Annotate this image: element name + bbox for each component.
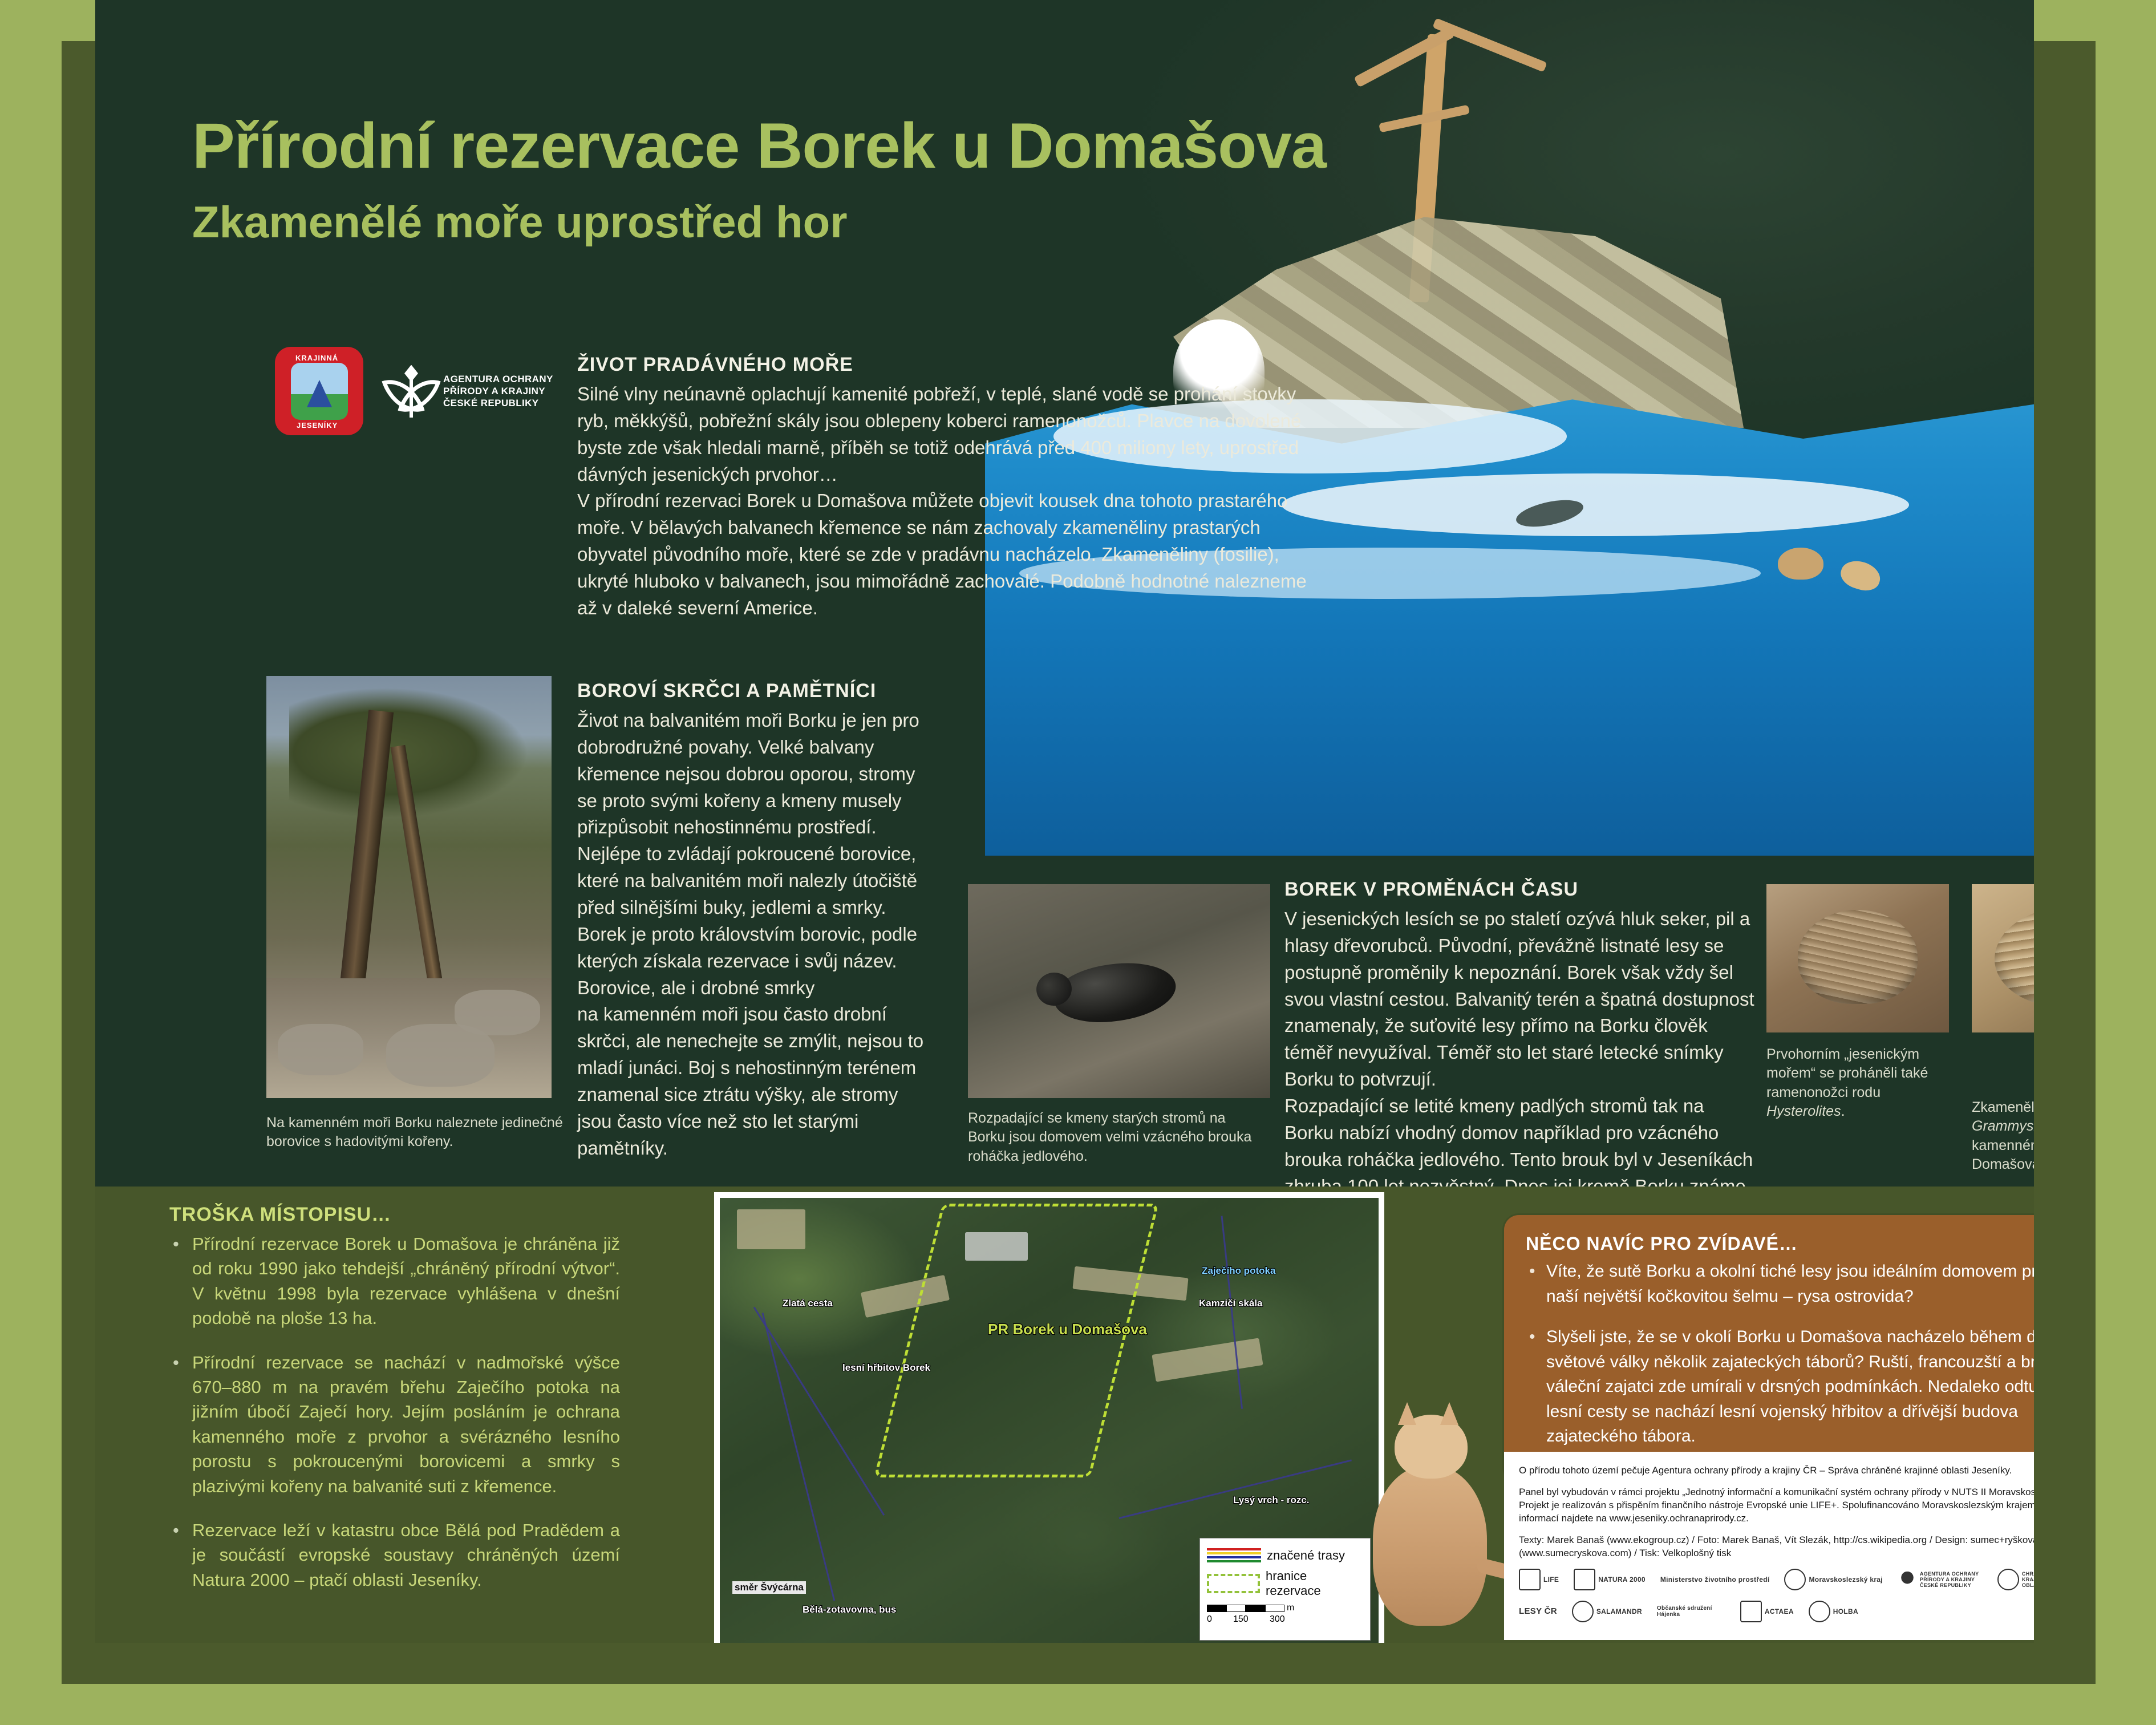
list-item: Přírodní rezervace se nachází v nadmořsk… bbox=[192, 1350, 620, 1499]
chko-logo-top: KRAJINNÁ bbox=[295, 354, 338, 362]
section-pines-paragraph-1: Život na balvanitém moři Borku je jen pr… bbox=[577, 707, 931, 1001]
legend-boundary-label: hranice rezervace bbox=[1266, 1569, 1363, 1598]
logo-label: LESY ČR bbox=[1519, 1606, 1557, 1616]
section-topography-heading: TROŠKA MÍSTOPISU… bbox=[169, 1204, 620, 1226]
section-pines: BOROVÍ SKRČCI A PAMĚTNÍCI Život na balva… bbox=[577, 680, 931, 1162]
logo-moravskoslezsky-kraj: Moravskoslezský kraj bbox=[1784, 1569, 1882, 1590]
scale-tick: 300 bbox=[1270, 1614, 1285, 1625]
map-road bbox=[753, 1307, 885, 1516]
map-aerial-image: Zlatá cesta lesní hřbitov Borek PR Borek… bbox=[720, 1198, 1379, 1643]
aopk-line-2: PŘÍRODY A KRAJINY bbox=[443, 385, 553, 397]
photo-stag-beetle bbox=[968, 884, 1270, 1098]
scale-bar: m bbox=[1207, 1603, 1363, 1613]
logo-label: HOLBA bbox=[1833, 1607, 1858, 1615]
lynx-ear-left bbox=[1398, 1402, 1416, 1425]
logo-holba: HOLBA bbox=[1809, 1601, 1858, 1622]
map-label-bus: Bělá-zotavovna, bus bbox=[803, 1604, 896, 1615]
sponsor-logos: LIFE NATURA 2000 Ministerstvo životního … bbox=[1519, 1569, 2034, 1622]
brachiopod-shell bbox=[1798, 910, 1918, 1004]
scale-unit: m bbox=[1287, 1603, 1294, 1613]
logo-label: Ministerstvo životního prostředí bbox=[1660, 1576, 1770, 1584]
photo-fossil-brachiopod bbox=[1766, 884, 1949, 1032]
chko-logo-icon bbox=[1997, 1569, 2019, 1590]
logo-label: NATURA 2000 bbox=[1598, 1576, 1646, 1584]
logo-salamandr: SALAMANDR bbox=[1572, 1601, 1642, 1622]
chko-jeseniky-logo: KRAJINNÁ JESENÍKY bbox=[275, 347, 363, 435]
logo-label: Občanské sdružení Hájenka bbox=[1657, 1605, 1725, 1618]
aopk-cr-logo: AGENTURA OCHRANY PŘÍRODY A KRAJINY ČESKÉ… bbox=[387, 365, 553, 418]
credits-line-1: O přírodu tohoto území pečuje Agentura o… bbox=[1519, 1464, 2034, 1477]
map-label: Zlatá cesta bbox=[783, 1298, 833, 1309]
credits-box: O přírodu tohoto území pečuje Agentura o… bbox=[1504, 1452, 2034, 1640]
list-item: Rezervace leží v katastru obce Bělá pod … bbox=[192, 1518, 620, 1592]
page-subtitle: Zkamenělé moře uprostřed hor bbox=[192, 200, 848, 244]
map-legend: značené trasy hranice rezervace m bbox=[1199, 1538, 1371, 1641]
foam-wave bbox=[1282, 473, 1909, 536]
list-item: Přírodní rezervace Borek u Domašova je c… bbox=[192, 1232, 620, 1331]
logo-ministry-environment: Ministerstvo životního prostředí bbox=[1660, 1576, 1770, 1584]
logo-label: SALAMANDR bbox=[1596, 1607, 1642, 1615]
trail-green bbox=[1207, 1560, 1261, 1562]
logo-actaea: ACTAEA bbox=[1740, 1601, 1794, 1622]
topography-bullet-list: Přírodní rezervace Borek u Domašova je c… bbox=[169, 1232, 620, 1592]
chko-logo-bottom: JESENÍKY bbox=[297, 421, 338, 430]
logo-label: CHRÁNĚNÁ KRAJINNÁ OBLAST JESENÍKY bbox=[2022, 1571, 2034, 1588]
mountain-icon bbox=[307, 380, 332, 407]
salamander-logo-icon bbox=[1572, 1601, 1594, 1622]
scale-seg bbox=[1226, 1605, 1246, 1612]
map-road bbox=[1119, 1459, 1352, 1519]
kraj-logo-icon bbox=[1784, 1569, 1806, 1590]
map-clearing bbox=[1152, 1338, 1263, 1382]
lynx-ear-right bbox=[1440, 1402, 1458, 1425]
section-time-heading: BOREK V PROMĚNÁCH ČASU bbox=[1284, 878, 1758, 901]
scale-tick: 0 bbox=[1207, 1614, 1233, 1625]
lynx-body bbox=[1373, 1466, 1487, 1626]
section-sea-life-heading: ŽIVOT PRADÁVNÉHO MOŘE bbox=[577, 354, 1313, 376]
caption-pine-photo: Na kamenném moři Borku naleznete jedineč… bbox=[266, 1113, 563, 1152]
map-label-direction: směr Švýcárna bbox=[732, 1581, 806, 1594]
logo-natura2000: NATURA 2000 bbox=[1574, 1569, 1646, 1590]
extra-bullet-list: Víte, že sutě Borku a okolní tiché lesy … bbox=[1526, 1259, 2034, 1449]
trail-red bbox=[1207, 1548, 1261, 1550]
trail-yellow bbox=[1207, 1552, 1261, 1554]
list-item: Víte, že sutě Borku a okolní tiché lesy … bbox=[1546, 1259, 2034, 1309]
brachiopod-illustration bbox=[1778, 548, 1823, 580]
section-extra-heading: NĚCO NAVÍC PRO ZVÍDAVÉ… bbox=[1526, 1233, 2034, 1254]
credits-line-3: Texty: Marek Banaš (www.ekogroup.cz) / F… bbox=[1519, 1534, 2034, 1560]
map-label-stream: Zaječího potoka bbox=[1202, 1265, 1275, 1277]
map-road bbox=[762, 1313, 836, 1601]
scale-ticks: 0 150 300 bbox=[1207, 1614, 1363, 1625]
map-road bbox=[1221, 1216, 1243, 1408]
scale-seg bbox=[1207, 1605, 1226, 1612]
fossil1-genus: Hysterolites bbox=[1766, 1103, 1841, 1119]
map-scale: m 0 150 300 bbox=[1207, 1603, 1363, 1625]
chko-emblem-icon bbox=[291, 363, 348, 420]
fossil2-genus: Grammysia bbox=[1972, 1118, 2034, 1134]
aopk-line-3: ČESKÉ REPUBLIKY bbox=[443, 397, 553, 409]
legend-trails-label: značené trasy bbox=[1267, 1548, 1345, 1563]
section-sea-life-paragraph-1: Silné vlny neúnavně oplachují kamenité p… bbox=[577, 381, 1313, 488]
section-topography: TROŠKA MÍSTOPISU… Přírodní rezervace Bor… bbox=[169, 1204, 620, 1611]
plant-bud-icon bbox=[404, 365, 418, 382]
logo-lesy-cr: LESY ČR bbox=[1519, 1606, 1557, 1616]
credits-line-2: Panel byl vybudován v rámci projektu „Je… bbox=[1519, 1486, 2034, 1525]
plant-leaf-icon bbox=[387, 365, 435, 418]
section-pines-heading: BOROVÍ SKRČCI A PAMĚTNÍCI bbox=[577, 680, 931, 702]
logo-hajenka: Občanské sdružení Hájenka bbox=[1657, 1605, 1725, 1618]
caption-fossil-brachiopod: Prvohorním „jesenickým mořem“ se proháně… bbox=[1766, 1045, 1949, 1121]
caption-fossil-bivalve: Zkamenělina mlže rodu Grammysia se ukrýv… bbox=[1972, 1098, 2034, 1174]
map-label: Lysý vrch - rozc. bbox=[1233, 1495, 1310, 1506]
aopk-logo-text: AGENTURA OCHRANY PŘÍRODY A KRAJINY ČESKÉ… bbox=[443, 373, 553, 410]
logo-chko-jeseniky: CHRÁNĚNÁ KRAJINNÁ OBLAST JESENÍKY bbox=[1997, 1569, 2034, 1590]
reserve-boundary bbox=[874, 1204, 1159, 1477]
location-map[interactable]: Zlatá cesta lesní hřbitov Borek PR Borek… bbox=[714, 1192, 1384, 1643]
actaea-logo-icon bbox=[1740, 1601, 1762, 1622]
section-extra-facts: NĚCO NAVÍC PRO ZVÍDAVÉ… Víte, že sutě Bo… bbox=[1504, 1215, 2034, 1482]
bivalve-shell bbox=[1995, 907, 2034, 1007]
map-label: lesní hřbitov Borek bbox=[842, 1362, 930, 1374]
section-time-paragraph-1: V jesenických lesích se po staletí ozývá… bbox=[1284, 906, 1758, 1093]
logo-label: ACTAEA bbox=[1765, 1607, 1794, 1615]
holba-logo-icon bbox=[1809, 1601, 1830, 1622]
map-clearing bbox=[737, 1209, 805, 1249]
logo-life: LIFE bbox=[1519, 1569, 1559, 1590]
section-sea-life-paragraph-2: V přírodní rezervaci Borek u Domašova mů… bbox=[577, 488, 1313, 621]
aopk-line-1: AGENTURA OCHRANY bbox=[443, 373, 553, 385]
natura2000-logo-icon bbox=[1574, 1569, 1595, 1590]
boulder bbox=[278, 1024, 363, 1075]
trail-color-swatches bbox=[1207, 1546, 1261, 1564]
legend-trails-row: značené trasy bbox=[1207, 1546, 1363, 1564]
logo-aopk: AGENTURA OCHRANY PŘÍRODY A KRAJINY ČESKÉ… bbox=[1898, 1570, 1983, 1589]
logo-label: LIFE bbox=[1543, 1576, 1559, 1584]
map-label: Kamzičí skála bbox=[1199, 1298, 1263, 1309]
photo-pine-tree bbox=[266, 676, 552, 1098]
caption-beetle-photo: Rozpadající se kmeny starých stromů na B… bbox=[968, 1109, 1265, 1166]
logo-label: AGENTURA OCHRANY PŘÍRODY A KRAJINY ČESKÉ… bbox=[1920, 1571, 1983, 1588]
scale-seg bbox=[1246, 1605, 1265, 1612]
logo-label: Moravskoslezský kraj bbox=[1809, 1576, 1882, 1584]
panel-content: Přírodní rezervace Borek u Domašova Zkam… bbox=[95, 0, 2034, 1643]
boundary-swatch bbox=[1207, 1574, 1260, 1593]
section-sea-life: ŽIVOT PRADÁVNÉHO MOŘE Silné vlny neúnavn… bbox=[577, 354, 1313, 622]
information-panel: AGENTURA OCHRANY PŘÍRODY A KRAJINY ČESKÉ… bbox=[0, 0, 2156, 1725]
legend-boundary-row: hranice rezervace bbox=[1207, 1569, 1363, 1598]
page-title: Přírodní rezervace Borek u Domašova bbox=[192, 114, 1326, 178]
aopk-logo-icon bbox=[1898, 1570, 1917, 1589]
boulder bbox=[455, 990, 540, 1035]
header-logos: KRAJINNÁ JESENÍKY AGENTURA OCHRANY PŘÍRO… bbox=[275, 347, 553, 435]
map-label-reserve: PR Borek u Domašova bbox=[988, 1321, 1147, 1338]
scale-seg bbox=[1265, 1605, 1284, 1612]
section-time: BOREK V PROMĚNÁCH ČASU V jesenických les… bbox=[1284, 878, 1758, 1226]
scale-tick: 150 bbox=[1233, 1614, 1270, 1625]
trail-blue bbox=[1207, 1556, 1261, 1558]
photo-fossil-bivalve bbox=[1972, 884, 2034, 1032]
life-logo-icon bbox=[1519, 1569, 1541, 1590]
section-pines-paragraph-2: na kamenném moři jsou často drobní skrčc… bbox=[577, 1001, 931, 1161]
list-item: Slyšeli jste, že se v okolí Borku u Doma… bbox=[1546, 1325, 2034, 1449]
